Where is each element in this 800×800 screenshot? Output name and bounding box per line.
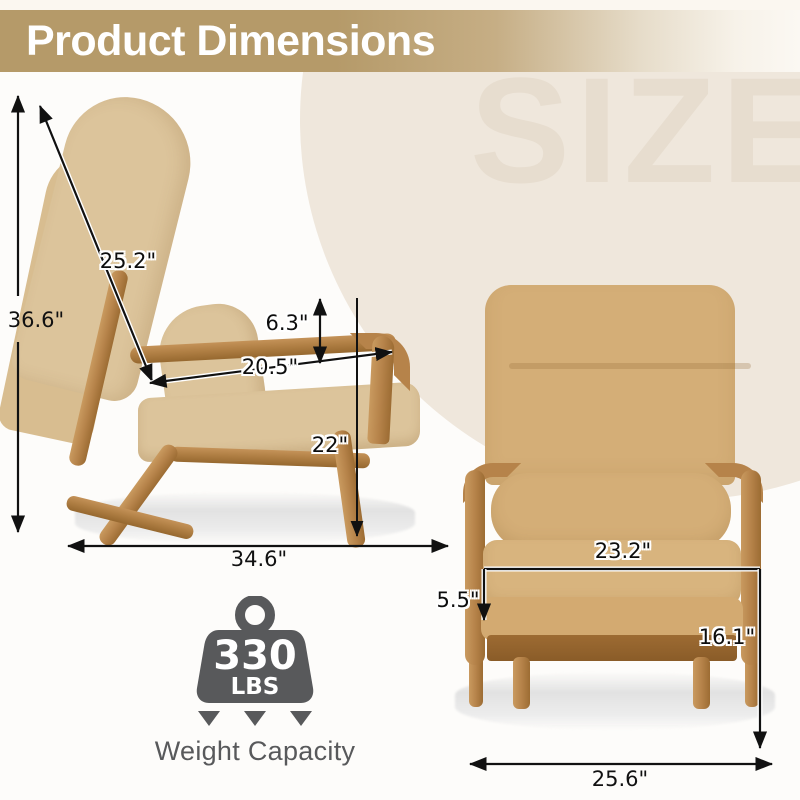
right-chair-back-seam	[509, 363, 751, 369]
infographic-page: SIZE Product Dimensions	[0, 0, 800, 800]
weight-arrows	[130, 711, 380, 726]
right-chair-left-arm	[465, 470, 485, 665]
triangle-down-icon	[244, 711, 266, 726]
weight-value: 330	[213, 633, 297, 679]
right-chair-lumbar-pillow	[491, 473, 731, 549]
right-chair-left-leg	[513, 657, 530, 709]
right-chair-backrest	[485, 285, 735, 485]
weight-unit: LBS	[231, 674, 280, 700]
weight-icon-wrap: 330 LBS	[130, 596, 380, 708]
weight-capacity-caption: Weight Capacity	[130, 736, 380, 767]
chair-side-view	[20, 90, 450, 540]
right-chair-right-leg	[693, 657, 710, 709]
product-stage	[0, 0, 800, 800]
triangle-down-icon	[290, 711, 312, 726]
chair-front-view	[465, 285, 785, 715]
weight-capacity-block: 330 LBS Weight Capacity	[130, 596, 380, 767]
triangle-down-icon	[198, 711, 220, 726]
weight-icon: 330 LBS	[185, 596, 325, 708]
right-chair-right-arm	[741, 470, 761, 665]
